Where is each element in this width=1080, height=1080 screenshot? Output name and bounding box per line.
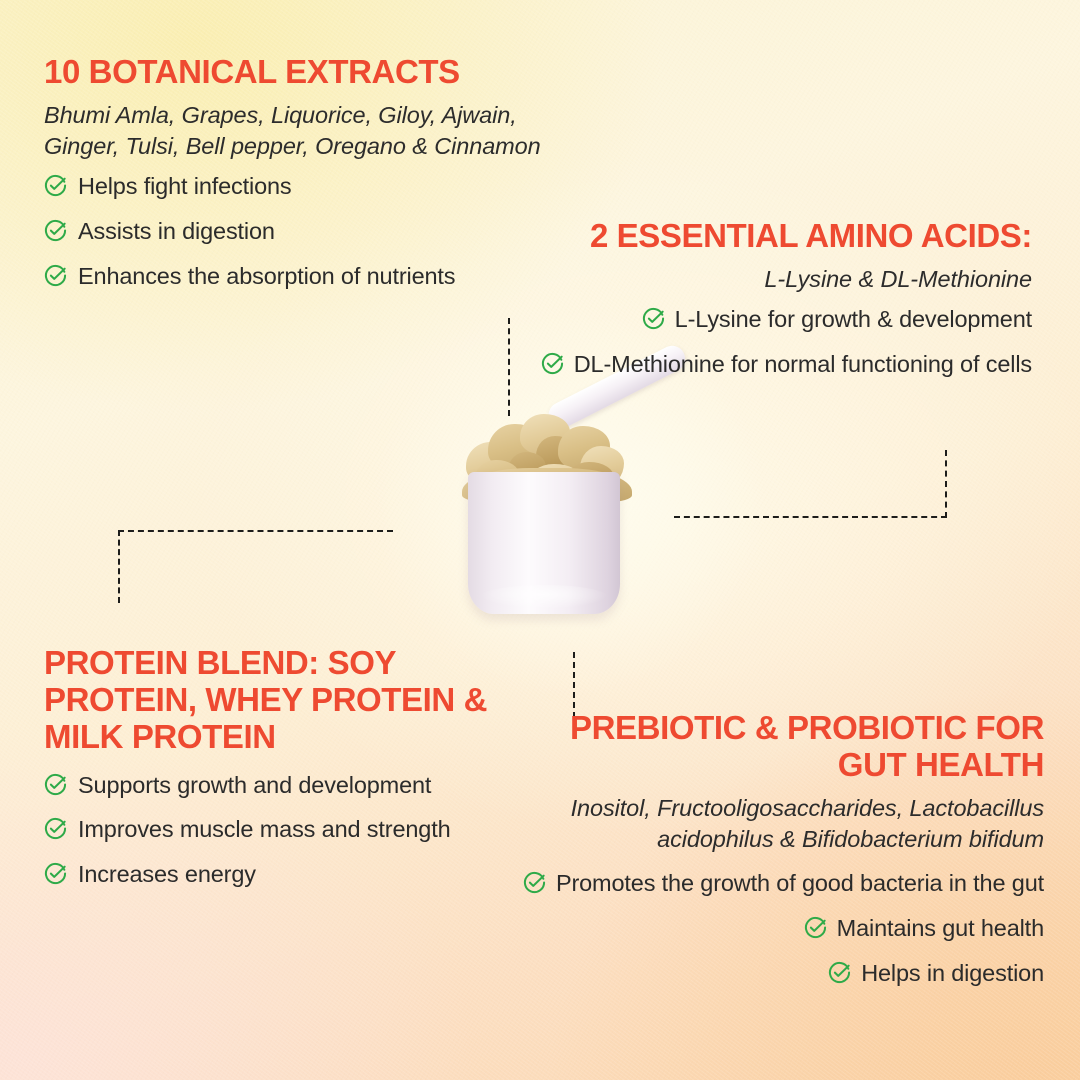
section-prebiotic-probiotic: PREBIOTIC & PROBIOTIC FOR GUT HEALTH Ino… [510,710,1044,988]
list-item-label: Improves muscle mass and strength [78,814,451,845]
check-circle-icon [44,773,67,796]
section-amino-acids: 2 ESSENTIAL AMINO ACIDS: L-Lysine & DL-M… [520,218,1032,379]
list-item: Helps fight infections [44,171,564,202]
check-circle-icon [44,862,67,885]
amino-heading: 2 ESSENTIAL AMINO ACIDS: [520,218,1032,255]
list-item-label: Maintains gut health [837,915,1044,941]
gut-bullet-list: Promotes the growth of good bacteria in … [510,868,1044,988]
gut-subtitle: Inositol, Fructooligosaccharides, Lactob… [510,793,1044,856]
connector-gut-horizontal [674,516,947,518]
check-circle-icon [828,961,851,984]
list-item-label: Assists in digestion [78,216,275,247]
connector-protein-vertical-left [118,530,120,603]
connector-amino-vertical [508,318,510,416]
list-item-label: Supports growth and development [78,770,431,801]
infographic-poster: 10 BOTANICAL EXTRACTS Bhumi Amla, Grapes… [0,0,1080,1080]
check-circle-icon [44,264,67,287]
list-item-label: Promotes the growth of good bacteria in … [556,870,1044,896]
protein-bullet-list: Supports growth and development Improves… [44,770,522,890]
botanical-bullet-list: Helps fight infections Assists in digest… [44,171,564,291]
list-item: Increases energy [44,859,522,890]
check-circle-icon [642,307,665,330]
section-protein-blend: PROTEIN BLEND: SOY PROTEIN, WHEY PROTEIN… [44,645,522,890]
check-circle-icon [541,352,564,375]
list-item: Promotes the growth of good bacteria in … [510,868,1044,899]
list-item-label: Enhances the absorption of nutrients [78,261,455,292]
list-item: Helps in digestion [510,958,1044,989]
connector-gut-vertical-right [945,450,947,518]
section-botanical-extracts: 10 BOTANICAL EXTRACTS Bhumi Amla, Grapes… [44,54,564,291]
list-item: L-Lysine for growth & development [520,304,1032,335]
list-item-label: Helps fight infections [78,171,292,202]
list-item: Maintains gut health [510,913,1044,944]
amino-subtitle: L-Lysine & DL-Methionine [520,264,1032,295]
protein-heading: PROTEIN BLEND: SOY PROTEIN, WHEY PROTEIN… [44,645,522,756]
list-item-label: DL-Methionine for normal functioning of … [574,351,1032,377]
check-circle-icon [44,174,67,197]
amino-bullet-list: L-Lysine for growth & development DL-Met… [520,304,1032,379]
check-circle-icon [44,817,67,840]
botanical-subtitle: Bhumi Amla, Grapes, Liquorice, Giloy, Aj… [44,100,564,163]
list-item: Supports growth and development [44,770,522,801]
list-item: Assists in digestion [44,216,564,247]
list-item: DL-Methionine for normal functioning of … [520,349,1032,380]
scoop-cup [468,472,620,614]
check-circle-icon [44,219,67,242]
check-circle-icon [523,871,546,894]
list-item-label: Helps in digestion [861,960,1044,986]
list-item-label: Increases energy [78,859,256,890]
check-circle-icon [804,916,827,939]
gut-heading: PREBIOTIC & PROBIOTIC FOR GUT HEALTH [510,710,1044,784]
list-item-label: L-Lysine for growth & development [675,306,1032,332]
botanical-heading: 10 BOTANICAL EXTRACTS [44,54,564,91]
protein-powder-scoop-image [432,388,732,628]
list-item: Improves muscle mass and strength [44,814,522,845]
connector-protein-horizontal [118,530,393,532]
list-item: Enhances the absorption of nutrients [44,261,564,292]
